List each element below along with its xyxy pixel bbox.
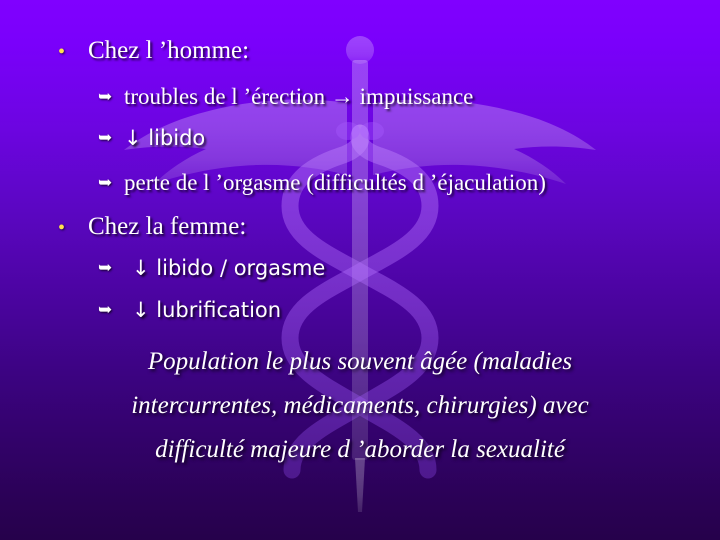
arrow-bullet-icon: ➥ [98, 88, 124, 105]
bullet-heading-men: • Chez l ’homme: [58, 38, 249, 63]
arrow-bullet-icon: ➥ [98, 301, 124, 318]
bullet-men-libido: ➥ ↓ libido [98, 128, 205, 149]
bullet-women-lubrication: ➥ ↓ lubrification [98, 300, 281, 321]
women-lubrication-label: ↓ lubrification [132, 300, 281, 321]
bullet-men-erection: ➥ troubles de l ’érection → impuissance [98, 85, 473, 108]
closing-note: Population le plus souvent âgée (maladie… [0, 340, 720, 472]
women-libido-orgasm-label: ↓ libido / orgasme [132, 258, 325, 279]
bullet-dot-icon: • [58, 42, 80, 62]
arrow-bullet-icon: ➥ [98, 174, 124, 191]
heading-men-label: Chez l ’homme: [88, 38, 249, 63]
men-erection-label: troubles de l ’érection → impuissance [124, 85, 473, 108]
bullet-dot-icon: • [58, 218, 80, 238]
men-orgasm-label: perte de l ’orgasme (difficultés d ’éjac… [124, 171, 546, 194]
men-libido-label: ↓ libido [124, 128, 205, 149]
heading-women-label: Chez la femme: [88, 214, 246, 239]
arrow-bullet-icon: ➥ [98, 259, 124, 276]
bullet-women-libido-orgasm: ➥ ↓ libido / orgasme [98, 258, 325, 279]
bullet-heading-women: • Chez la femme: [58, 214, 246, 239]
closing-note-line-3: difficulté majeure d ’aborder la sexuali… [0, 428, 720, 472]
arrow-bullet-icon: ➥ [98, 129, 124, 146]
presentation-slide: • Chez l ’homme: ➥ troubles de l ’érecti… [0, 0, 720, 540]
closing-note-line-1: Population le plus souvent âgée (maladie… [0, 340, 720, 384]
closing-note-line-2: intercurrentes, médicaments, chirurgies)… [0, 384, 720, 428]
bullet-men-orgasm: ➥ perte de l ’orgasme (difficultés d ’éj… [98, 171, 546, 194]
